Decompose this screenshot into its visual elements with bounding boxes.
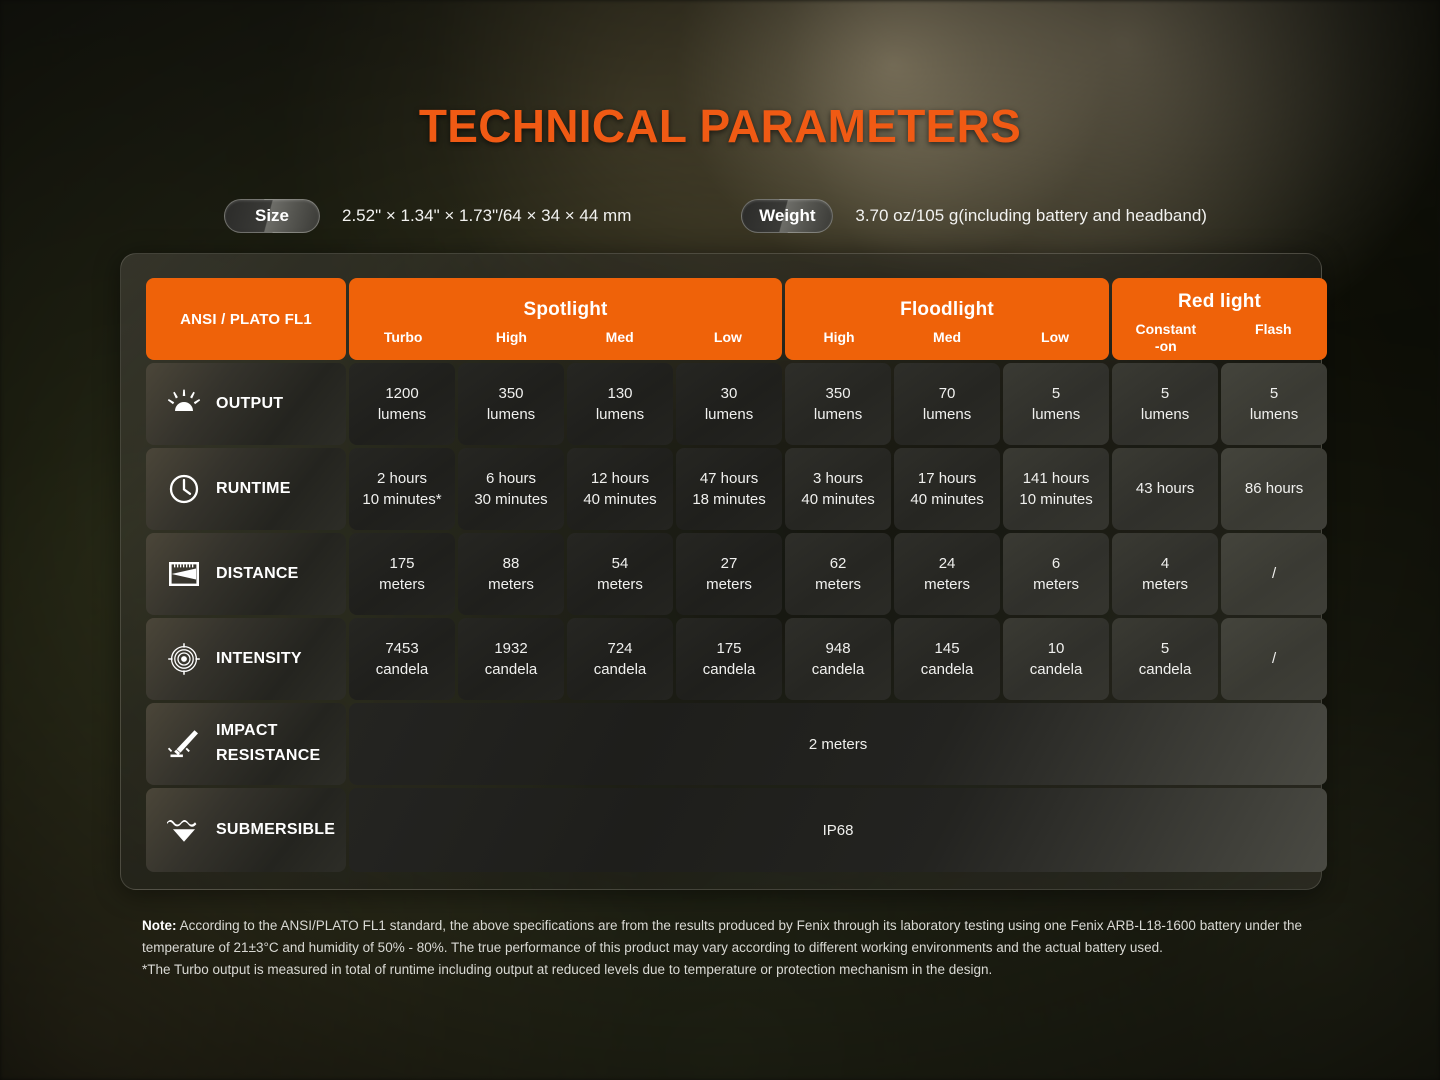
- page-root: TECHNICAL PARAMETERS Size 2.52" × 1.34" …: [0, 0, 1440, 1080]
- ruler-beam-icon: [164, 555, 204, 593]
- cell-distance-floodlight-med: 24 meters: [894, 533, 1000, 615]
- mode-spotlight-high: High: [457, 329, 565, 345]
- group-title-redlight: Red light: [1112, 284, 1327, 313]
- cell-runtime-floodlight-high: 3 hours 40 minutes: [785, 448, 891, 530]
- size-badge: Size: [224, 199, 320, 233]
- cell-submersible-value: IP68: [349, 788, 1327, 872]
- mode-spotlight-med: Med: [566, 329, 674, 345]
- cell-intensity-redlight-flash: /: [1221, 618, 1327, 700]
- cell-distance-spotlight-turbo: 175 meters: [349, 533, 455, 615]
- note-prefix: Note:: [142, 918, 177, 933]
- sun-rays-icon: [164, 385, 204, 423]
- specs-table: ANSI / PLATO FL1 Spotlight Turbo High Me…: [143, 275, 1330, 875]
- cell-output-spotlight-high: 350 lumens: [458, 363, 564, 445]
- row-label-output: OUTPUT: [146, 363, 346, 445]
- header-group-floodlight: Floodlight High Med Low: [785, 278, 1109, 360]
- cell-output-spotlight-low: 30 lumens: [676, 363, 782, 445]
- row-label-submersible: SUBMERSIBLE: [146, 788, 346, 872]
- group-modes-spotlight: Turbo High Med Low: [349, 329, 782, 345]
- cell-intensity-spotlight-low: 175 candela: [676, 618, 782, 700]
- target-icon: [164, 640, 204, 678]
- row-label-runtime: RUNTIME: [146, 448, 346, 530]
- weight-badge: Weight: [741, 199, 833, 233]
- row-label-text-runtime: RUNTIME: [216, 477, 291, 502]
- row-label-text-submersible: SUBMERSIBLE: [216, 818, 335, 843]
- cell-output-floodlight-low: 5 lumens: [1003, 363, 1109, 445]
- cell-runtime-spotlight-high: 6 hours 30 minutes: [458, 448, 564, 530]
- cell-runtime-redlight-constant: 43 hours: [1112, 448, 1218, 530]
- cell-output-spotlight-med: 130 lumens: [567, 363, 673, 445]
- cell-impact-resistance-value: 2 meters: [349, 703, 1327, 785]
- cell-output-floodlight-med: 70 lumens: [894, 363, 1000, 445]
- row-label-intensity: INTENSITY: [146, 618, 346, 700]
- row-label-text-distance: DISTANCE: [216, 562, 299, 587]
- clock-icon: [164, 470, 204, 508]
- mode-spotlight-turbo: Turbo: [349, 329, 457, 345]
- cell-intensity-spotlight-high: 1932 candela: [458, 618, 564, 700]
- cell-distance-spotlight-med: 54 meters: [567, 533, 673, 615]
- note-footnote: *The Turbo output is measured in total o…: [142, 959, 1302, 981]
- table-row-submersible: SUBMERSIBLE IP68: [146, 788, 1327, 872]
- footnote-block: Note: According to the ANSI/PLATO FL1 st…: [142, 915, 1302, 981]
- note-body: According to the ANSI/PLATO FL1 standard…: [142, 918, 1302, 955]
- cell-intensity-floodlight-low: 10 candela: [1003, 618, 1109, 700]
- group-modes-floodlight: High Med Low: [785, 329, 1109, 345]
- mode-redlight-flash: Flash: [1220, 321, 1328, 353]
- cell-distance-redlight-constant: 4 meters: [1112, 533, 1218, 615]
- cell-output-redlight-flash: 5 lumens: [1221, 363, 1327, 445]
- size-value: 2.52" × 1.34" × 1.73"/64 × 34 × 44 mm: [342, 206, 631, 226]
- cell-intensity-spotlight-med: 724 candela: [567, 618, 673, 700]
- row-label-text-impact-resistance: IMPACT RESISTANCE: [216, 719, 320, 769]
- group-title-spotlight: Spotlight: [349, 292, 782, 321]
- header-ansi-plato: ANSI / PLATO FL1: [146, 278, 346, 360]
- header-group-spotlight: Spotlight Turbo High Med Low: [349, 278, 782, 360]
- table-row-distance: DISTANCE 175 meters 88 meters 54 meters …: [146, 533, 1327, 615]
- mode-spotlight-low: Low: [674, 329, 782, 345]
- cell-distance-redlight-flash: /: [1221, 533, 1327, 615]
- weight-value: 3.70 oz/105 g(including battery and head…: [855, 206, 1207, 226]
- group-title-floodlight: Floodlight: [785, 292, 1109, 321]
- cell-distance-floodlight-high: 62 meters: [785, 533, 891, 615]
- cell-intensity-floodlight-high: 948 candela: [785, 618, 891, 700]
- cell-distance-spotlight-low: 27 meters: [676, 533, 782, 615]
- cell-runtime-spotlight-turbo: 2 hours 10 minutes*: [349, 448, 455, 530]
- mode-floodlight-med: Med: [893, 329, 1001, 345]
- table-row-output: OUTPUT 1200 lumens 350 lumens 130 lumens…: [146, 363, 1327, 445]
- water-wave-icon: [164, 811, 204, 849]
- cell-distance-floodlight-low: 6 meters: [1003, 533, 1109, 615]
- cell-runtime-spotlight-low: 47 hours 18 minutes: [676, 448, 782, 530]
- table-header-row: ANSI / PLATO FL1 Spotlight Turbo High Me…: [146, 278, 1327, 360]
- note-paragraph: Note: According to the ANSI/PLATO FL1 st…: [142, 915, 1302, 959]
- mode-redlight-constant-on: Constant -on: [1112, 321, 1220, 353]
- row-label-text-intensity: INTENSITY: [216, 647, 302, 672]
- cell-runtime-spotlight-med: 12 hours 40 minutes: [567, 448, 673, 530]
- cell-runtime-floodlight-med: 17 hours 40 minutes: [894, 448, 1000, 530]
- header-group-redlight: Red light Constant -on Flash: [1112, 278, 1327, 360]
- row-label-text-output: OUTPUT: [216, 392, 283, 417]
- page-title: TECHNICAL PARAMETERS: [0, 0, 1440, 149]
- specs-table-card: ANSI / PLATO FL1 Spotlight Turbo High Me…: [120, 253, 1322, 890]
- cell-intensity-spotlight-turbo: 7453 candela: [349, 618, 455, 700]
- table-row-runtime: RUNTIME 2 hours 10 minutes* 6 hours 30 m…: [146, 448, 1327, 530]
- cell-intensity-redlight-constant: 5 candela: [1112, 618, 1218, 700]
- row-label-distance: DISTANCE: [146, 533, 346, 615]
- cell-runtime-redlight-flash: 86 hours: [1221, 448, 1327, 530]
- table-row-intensity: INTENSITY 7453 candela 1932 candela 724 …: [146, 618, 1327, 700]
- mode-floodlight-high: High: [785, 329, 893, 345]
- hammer-impact-icon: [164, 725, 204, 763]
- cell-runtime-floodlight-low: 141 hours 10 minutes: [1003, 448, 1109, 530]
- group-modes-redlight: Constant -on Flash: [1112, 321, 1327, 353]
- cell-intensity-floodlight-med: 145 candela: [894, 618, 1000, 700]
- spec-summary-row: Size 2.52" × 1.34" × 1.73"/64 × 34 × 44 …: [0, 199, 1440, 233]
- cell-output-spotlight-turbo: 1200 lumens: [349, 363, 455, 445]
- cell-output-floodlight-high: 350 lumens: [785, 363, 891, 445]
- table-row-impact-resistance: IMPACT RESISTANCE 2 meters: [146, 703, 1327, 785]
- row-label-impact-resistance: IMPACT RESISTANCE: [146, 703, 346, 785]
- cell-output-redlight-constant: 5 lumens: [1112, 363, 1218, 445]
- mode-floodlight-low: Low: [1001, 329, 1109, 345]
- cell-distance-spotlight-high: 88 meters: [458, 533, 564, 615]
